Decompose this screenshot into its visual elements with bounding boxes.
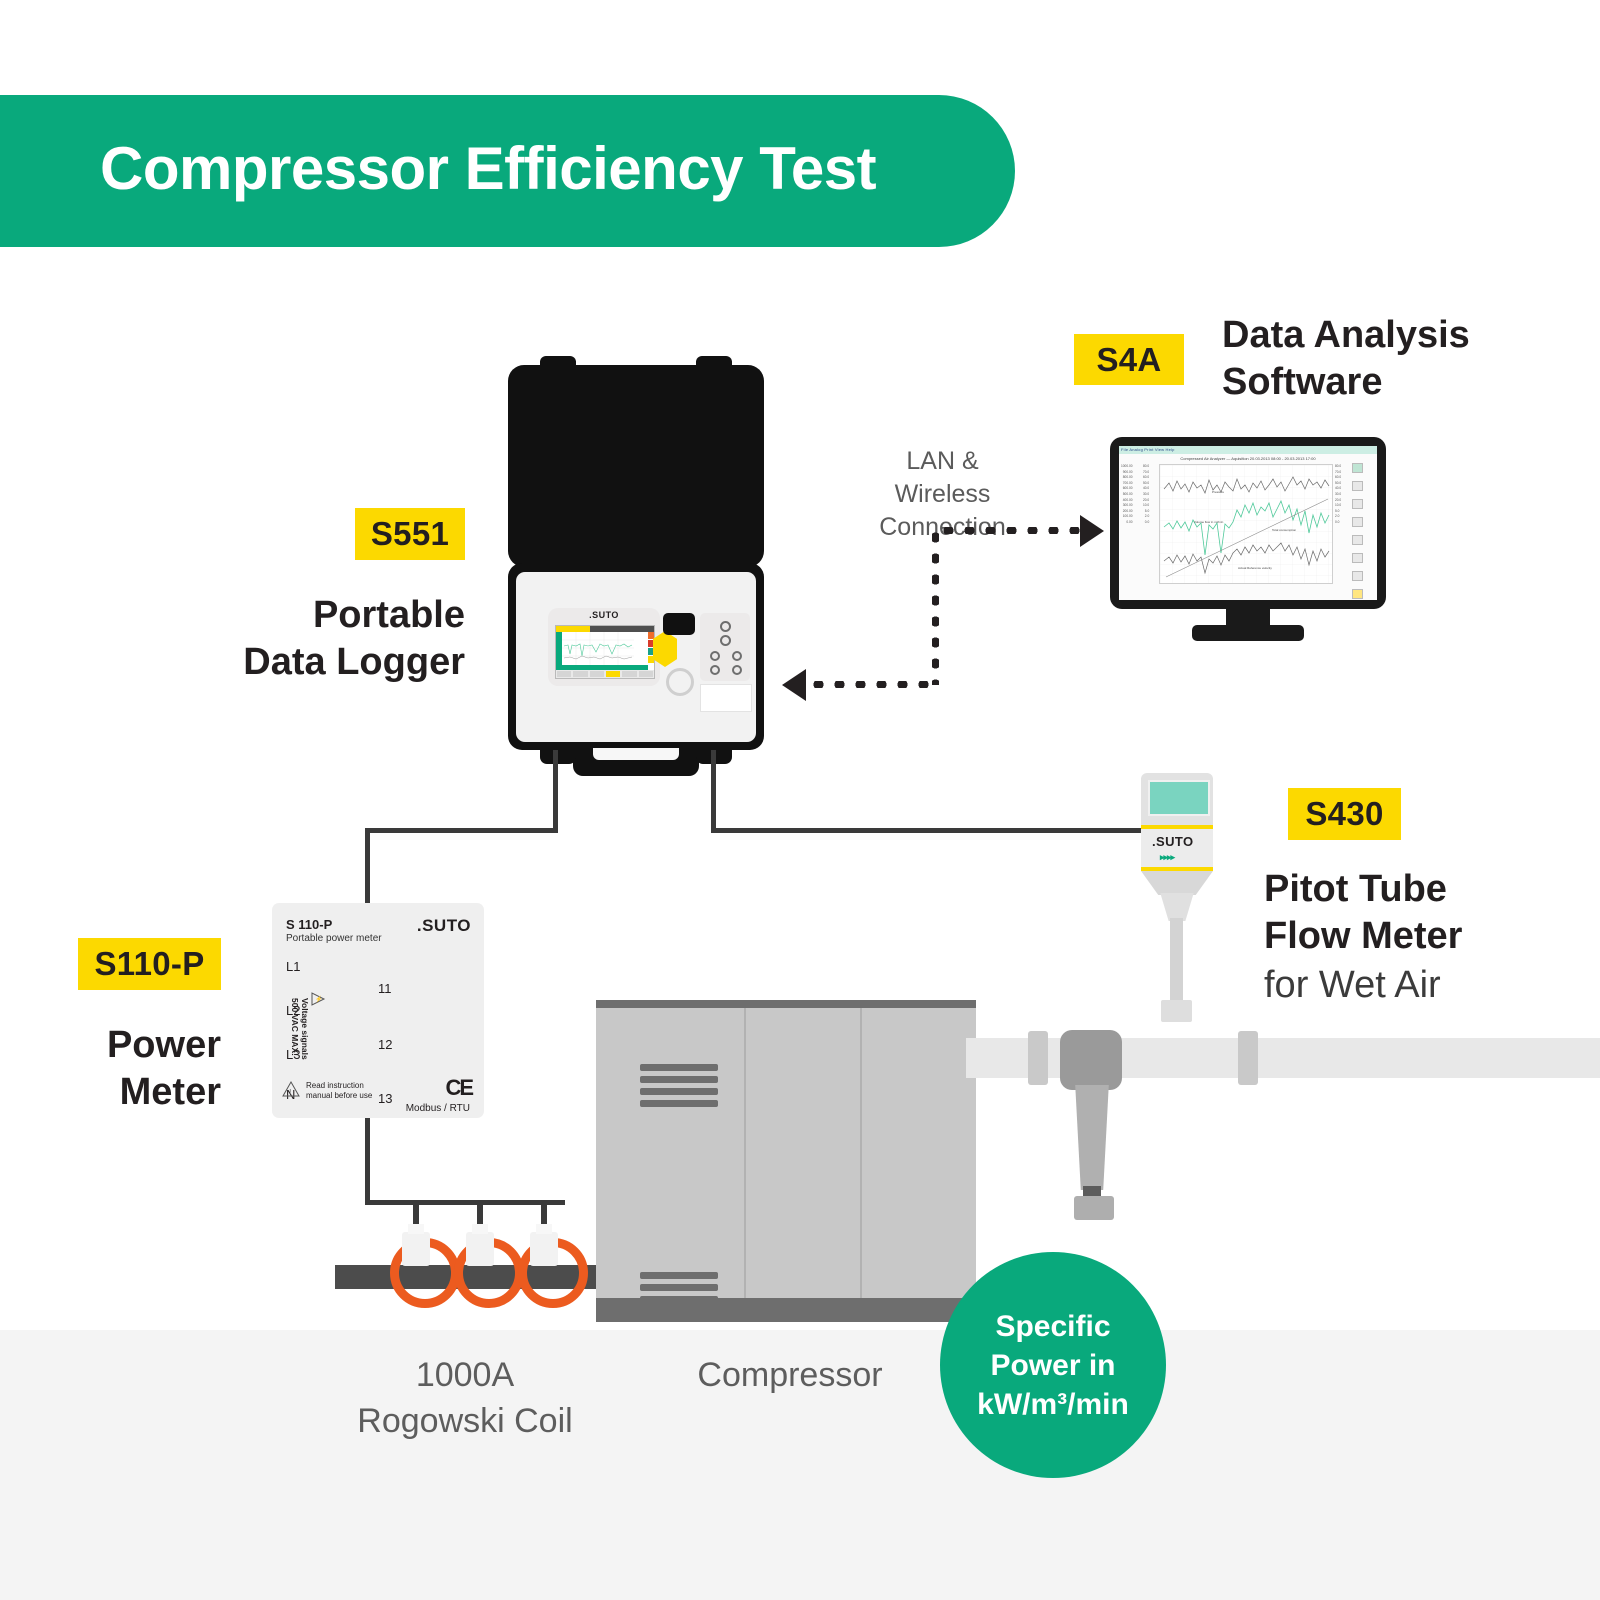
voltage-warning-line1: Voltage signals [300, 998, 310, 1060]
compressor-panel-divider-1 [744, 1008, 746, 1308]
power-meter-model: S 110-P [286, 917, 332, 932]
label-s551: Portable Data Logger [150, 592, 465, 686]
cable-logger-to-flowmeter-horizontal [711, 828, 1147, 833]
compressor-vent-top-3 [640, 1088, 718, 1095]
page-title: Compressor Efficiency Test [100, 133, 1000, 205]
svg-text:Actual Reference velocity: Actual Reference velocity [1238, 566, 1272, 570]
channel-13: 13 [378, 1091, 392, 1106]
badge-s4a[interactable]: S4A [1074, 334, 1184, 385]
compressor-vent-bottom-2 [640, 1284, 718, 1291]
compressor-vent-top-2 [640, 1076, 718, 1083]
result-line3: kW/m³/min [977, 1385, 1129, 1424]
softkey-1[interactable] [557, 671, 571, 677]
connector-port-1[interactable] [720, 621, 731, 632]
svg-text:Total consumption: Total consumption [1272, 528, 1297, 532]
manual-warning-line1: Read instruction [306, 1081, 364, 1090]
power-meter-subtitle: Portable power meter [286, 933, 382, 944]
softkey-6[interactable] [639, 671, 653, 677]
logger-connector-plate [700, 613, 750, 681]
label-s430-sub: for Wet Air [1264, 962, 1594, 1009]
suto-logo-flow-meter: .SUTO [1152, 834, 1194, 849]
flow-meter-head[interactable] [1141, 773, 1213, 825]
suto-logo-logger: .SUTO [548, 610, 660, 620]
software-toolbar[interactable] [1351, 461, 1375, 600]
flow-direction-arrows-icon: ▸▸▸▸ [1160, 852, 1174, 863]
logger-label-plate [700, 684, 752, 712]
toolbar-icon-line[interactable] [1352, 553, 1363, 563]
warning-triangle-icon-voltage: ⚡ [310, 991, 326, 1007]
label-s551-line1: Portable [150, 592, 465, 639]
case-handle-cutout [593, 748, 679, 760]
label-s4a-line2: Software [1222, 359, 1552, 406]
softkey-2[interactable] [573, 671, 587, 677]
softkey-3[interactable] [590, 671, 604, 677]
logger-expansion-slot [663, 613, 695, 635]
label-s110p: Power Meter [60, 1022, 221, 1116]
monitor-base [1192, 625, 1304, 641]
toolbar-icon-table[interactable] [1352, 571, 1363, 581]
monitor-screen: File Analog Print View Help Compressed A… [1119, 446, 1377, 600]
voltage-warning-text: Voltage signals 500 VAC MAX! [290, 998, 310, 1078]
pitot-probe-stem [1170, 918, 1183, 1004]
cable-meter-to-coils-vertical [365, 1118, 370, 1205]
ce-mark: CE [445, 1075, 472, 1101]
toolbar-icon-grid[interactable] [1352, 481, 1363, 491]
voltage-warning-line2: 500 VAC MAX! [290, 998, 300, 1056]
badge-s430[interactable]: S430 [1288, 788, 1401, 840]
chart-left-axis: 1000.00900.00800.00700.00600.00500.00400… [1121, 464, 1133, 582]
svg-text:⚡: ⚡ [315, 995, 322, 1003]
logger-front-plate: .SUTO [548, 608, 660, 686]
connection-dots-top [938, 527, 1086, 534]
case-lid [508, 365, 764, 567]
badge-s430-label: S430 [1305, 795, 1383, 833]
terminal-l1: L1 [286, 959, 300, 974]
coil-cap-3 [536, 1224, 552, 1234]
badge-s110p[interactable]: S110-P [78, 938, 221, 990]
flow-meter-neck [1158, 893, 1196, 921]
connection-dots-vertical [932, 527, 939, 685]
channel-11: 11 [378, 981, 392, 996]
toolbar-icon-marker[interactable] [1352, 589, 1363, 599]
suto-logo-power-meter: .SUTO [417, 916, 471, 936]
coil-cap-1 [408, 1224, 424, 1234]
coil-cap-2 [472, 1224, 488, 1234]
chart-plot-area: Pressure Volume flow in m³/min Total con… [1159, 464, 1333, 584]
softkey-4[interactable] [606, 671, 620, 677]
connection-label-line1: LAN & Wireless [855, 445, 1030, 511]
svg-text:Volume flow in m³/min: Volume flow in m³/min [1194, 520, 1224, 524]
power-button[interactable] [666, 668, 694, 696]
flow-meter-stripe-bottom [1141, 867, 1213, 871]
label-s4a-line1: Data Analysis [1222, 312, 1552, 359]
connector-port-2[interactable] [720, 635, 731, 646]
toolbar-icon-zoom[interactable] [1352, 517, 1363, 527]
software-menubar[interactable]: File Analog Print View Help [1121, 447, 1175, 452]
label-rogowski-line2: Rogowski Coil [330, 1398, 600, 1444]
logger-display[interactable] [555, 625, 655, 679]
manual-warning-line2: manual before use [306, 1091, 372, 1100]
flow-meter-taper [1141, 871, 1213, 895]
cable-down-to-meter [365, 828, 370, 906]
valve-stem [1072, 1085, 1112, 1190]
badge-s4a-label: S4A [1096, 341, 1161, 379]
compressor-vent-top-4 [640, 1100, 718, 1107]
label-s110p-line2: Meter [60, 1069, 221, 1116]
valve-head [1060, 1030, 1122, 1090]
toolbar-icon-chart[interactable] [1352, 463, 1363, 473]
power-meter-device[interactable]: S 110-P Portable power meter .SUTO L1 L2… [272, 903, 484, 1118]
compressor-vent-bottom-1 [640, 1272, 718, 1279]
coil-connector-1 [402, 1232, 430, 1266]
result-badge: Specific Power in kW/m³/min [940, 1252, 1166, 1478]
protocol-label: Modbus / RTU [406, 1103, 470, 1114]
result-badge-text: Specific Power in kW/m³/min [977, 1307, 1129, 1424]
chart-left-axis-2: 80.070.060.050.040.030.020.010.05.02.00.… [1143, 464, 1149, 582]
warning-triangle-icon-manual: ! [282, 1080, 302, 1098]
connector-port-6[interactable] [732, 665, 742, 675]
cable-logger-to-meter-horizontal [365, 828, 557, 833]
label-s430-line1: Pitot Tube [1264, 866, 1594, 913]
chart-right-axis: 80.070.060.050.040.030.020.010.05.02.00.… [1335, 464, 1341, 582]
svg-text:!: ! [289, 1089, 291, 1096]
display-btn-alarm[interactable] [648, 632, 654, 639]
monitor[interactable]: File Analog Print View Help Compressed A… [1110, 437, 1386, 609]
display-plot-svg [562, 632, 634, 665]
chart-svg: Pressure Volume flow in m³/min Total con… [1160, 465, 1332, 583]
display-softkeys[interactable] [556, 670, 654, 678]
compressor-panel-divider-2 [860, 1008, 862, 1308]
connector-port-3[interactable] [710, 651, 720, 661]
compressor-body [596, 1008, 976, 1308]
arrow-to-logger-icon [782, 669, 806, 701]
compressor-vent-top-1 [640, 1064, 718, 1071]
badge-s551-label: S551 [371, 515, 449, 553]
flow-meter-display [1148, 780, 1210, 816]
coil-connector-3 [530, 1232, 558, 1266]
compressor-base [596, 1298, 976, 1322]
connector-port-5[interactable] [710, 665, 720, 675]
display-plot [562, 632, 634, 665]
label-s430: Pitot Tube Flow Meter [1264, 866, 1594, 960]
cable-logger-to-flowmeter-vertical [711, 750, 716, 833]
label-s4a: Data Analysis Software [1222, 312, 1552, 406]
badge-s110p-label: S110-P [94, 945, 204, 983]
toolbar-icon-pen[interactable] [1352, 499, 1363, 509]
case-foot-left [540, 750, 576, 764]
connector-port-4[interactable] [732, 651, 742, 661]
badge-s551[interactable]: S551 [355, 508, 465, 560]
softkey-5[interactable] [622, 671, 636, 677]
svg-text:Pressure: Pressure [1212, 490, 1224, 494]
arrow-to-monitor-icon [1080, 515, 1104, 547]
connection-dots-bottom [808, 681, 938, 688]
cable-coil-bus [365, 1200, 565, 1205]
cable-logger-to-meter-vertical [553, 750, 558, 833]
pipe-collar-left [1028, 1031, 1048, 1085]
software-chart-title: Compressed Air Analyzer — Aquisition 20.… [1119, 456, 1377, 461]
label-compressor: Compressor [640, 1352, 940, 1398]
label-rogowski-coil: 1000A Rogowski Coil [330, 1352, 600, 1444]
probe-mounting-fitting [1161, 1000, 1192, 1022]
valve-foot [1074, 1196, 1114, 1220]
label-s110p-line1: Power [60, 1022, 221, 1069]
label-rogowski-line1: 1000A [330, 1352, 600, 1398]
label-s430-line2: Flow Meter [1264, 913, 1594, 960]
manual-warning-text: Read instruction manual before use [306, 1081, 372, 1101]
coil-connector-2 [466, 1232, 494, 1266]
diagram-canvas: Compressor Efficiency Test S4A Data Anal… [0, 0, 1600, 1600]
label-s551-line2: Data Logger [150, 639, 465, 686]
channel-12: 12 [378, 1037, 392, 1052]
result-line2: Power in [977, 1346, 1129, 1385]
pipe-collar-right [1238, 1031, 1258, 1085]
toolbar-icon-rect[interactable] [1352, 535, 1363, 545]
result-line1: Specific [977, 1307, 1129, 1346]
